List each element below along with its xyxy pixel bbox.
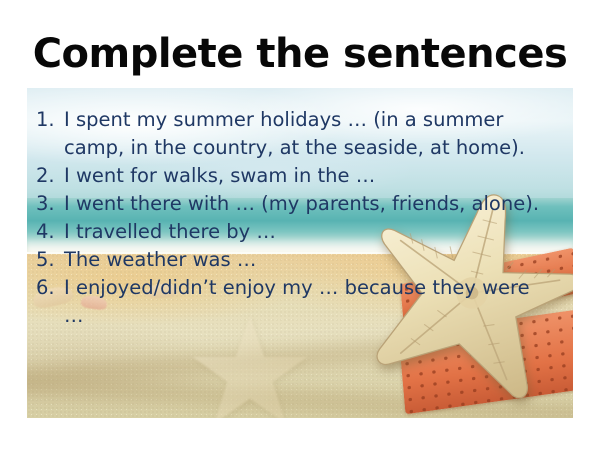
list-item-number: 4. bbox=[36, 218, 64, 246]
list-item: 2. I went for walks, swam in the … bbox=[36, 162, 554, 190]
list-item-text: The weather was … bbox=[64, 246, 554, 274]
list-item-text: I travelled there by … bbox=[64, 218, 554, 246]
list-item-text: I went there with … (my parents, friends… bbox=[64, 190, 554, 218]
page-title: Complete the sentences bbox=[0, 30, 600, 78]
list-item: 6. I enjoyed/didn’t enjoy my … because t… bbox=[36, 274, 554, 330]
list-item-number: 1. bbox=[36, 106, 64, 134]
list-item-number: 2. bbox=[36, 162, 64, 190]
list-item-number: 3. bbox=[36, 190, 64, 218]
list-item-number: 6. bbox=[36, 274, 64, 302]
list-item-number: 5. bbox=[36, 246, 64, 274]
slide-canvas: Complete the sentences bbox=[0, 0, 600, 450]
list-item: 5. The weather was … bbox=[36, 246, 554, 274]
list-item: 3. I went there with … (my parents, frie… bbox=[36, 190, 554, 218]
list-item-text: I went for walks, swam in the … bbox=[64, 162, 554, 190]
sentence-list: 1. I spent my summer holidays … (in a su… bbox=[36, 106, 554, 330]
list-item: 4. I travelled there by … bbox=[36, 218, 554, 246]
list-item: 1. I spent my summer holidays … (in a su… bbox=[36, 106, 554, 162]
list-item-text: I enjoyed/didn’t enjoy my … because they… bbox=[64, 274, 554, 330]
list-item-text: I spent my summer holidays … (in a summe… bbox=[64, 106, 554, 162]
